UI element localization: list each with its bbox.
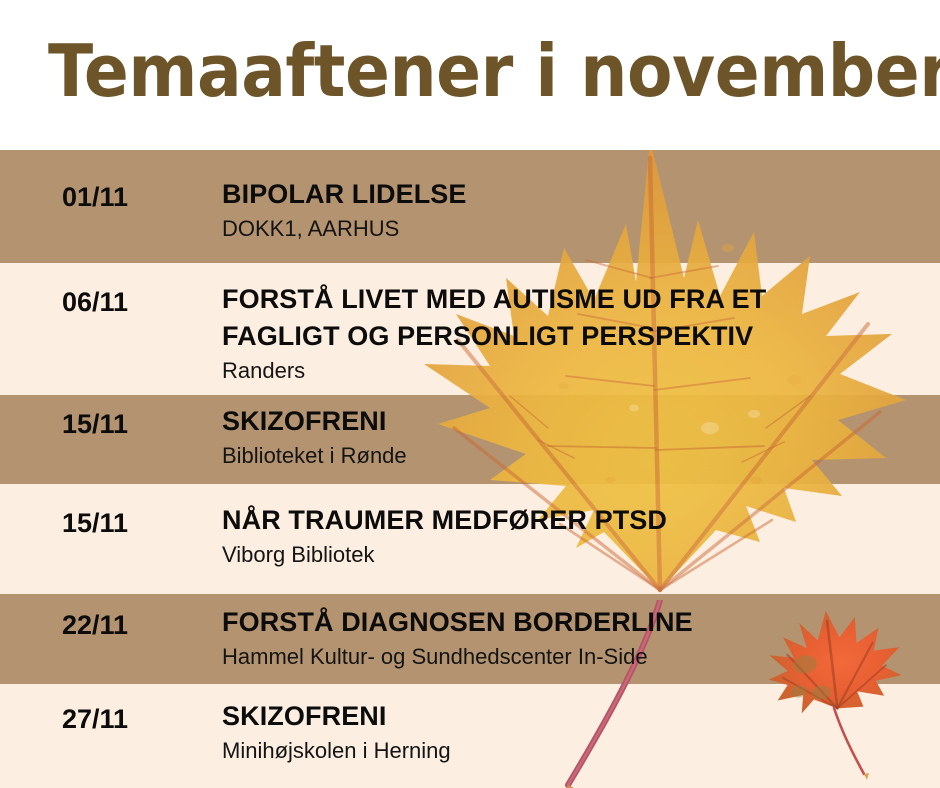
- event-title-line: FORSTÅ LIVET MED AUTISME UD FRA ET: [222, 281, 930, 318]
- event-row-5[interactable]: 22/11 FORSTÅ DIAGNOSEN BORDERLINE Hammel…: [0, 594, 940, 684]
- event-details: BIPOLAR LIDELSE DOKK1, AARHUS: [222, 176, 930, 244]
- event-title-line: FORSTÅ DIAGNOSEN BORDERLINE: [222, 604, 930, 641]
- event-title-line: NÅR TRAUMER MEDFØRER PTSD: [222, 502, 930, 539]
- event-date: 27/11: [62, 704, 128, 735]
- event-venue: Randers: [222, 356, 930, 386]
- event-venue: DOKK1, AARHUS: [222, 214, 930, 244]
- event-details: FORSTÅ DIAGNOSEN BORDERLINE Hammel Kultu…: [222, 604, 930, 672]
- poster-canvas: Temaaftener i november 01/11 BIPOLAR LID…: [0, 0, 940, 788]
- event-details: FORSTÅ LIVET MED AUTISME UD FRA ET FAGLI…: [222, 281, 930, 386]
- page-title: Temaaftener i november: [48, 28, 940, 114]
- event-venue: Biblioteket i Rønde: [222, 441, 930, 471]
- event-row-3[interactable]: 15/11 SKIZOFRENI Biblioteket i Rønde: [0, 395, 940, 484]
- event-venue: Hammel Kultur- og Sundhedscenter In-Side: [222, 642, 930, 672]
- event-date: 01/11: [62, 182, 128, 213]
- event-date: 15/11: [62, 508, 128, 539]
- event-details: SKIZOFRENI Minihøjskolen i Herning: [222, 698, 930, 766]
- event-row-1[interactable]: 01/11 BIPOLAR LIDELSE DOKK1, AARHUS: [0, 150, 940, 263]
- event-row-6[interactable]: 27/11 SKIZOFRENI Minihøjskolen i Herning: [0, 684, 940, 788]
- event-title-line: SKIZOFRENI: [222, 403, 930, 440]
- event-row-4[interactable]: 15/11 NÅR TRAUMER MEDFØRER PTSD Viborg B…: [0, 484, 940, 594]
- event-date: 22/11: [62, 610, 128, 641]
- event-title-line: BIPOLAR LIDELSE: [222, 176, 930, 213]
- event-details: NÅR TRAUMER MEDFØRER PTSD Viborg Bibliot…: [222, 502, 930, 570]
- poster-header: Temaaftener i november: [0, 0, 940, 150]
- event-title-line: FAGLIGT OG PERSONLIGT PERSPEKTIV: [222, 318, 930, 355]
- event-date: 15/11: [62, 409, 128, 440]
- event-title-line: SKIZOFRENI: [222, 698, 930, 735]
- event-row-2[interactable]: 06/11 FORSTÅ LIVET MED AUTISME UD FRA ET…: [0, 263, 940, 395]
- event-venue: Minihøjskolen i Herning: [222, 736, 930, 766]
- event-details: SKIZOFRENI Biblioteket i Rønde: [222, 403, 930, 471]
- event-venue: Viborg Bibliotek: [222, 540, 930, 570]
- event-date: 06/11: [62, 287, 128, 318]
